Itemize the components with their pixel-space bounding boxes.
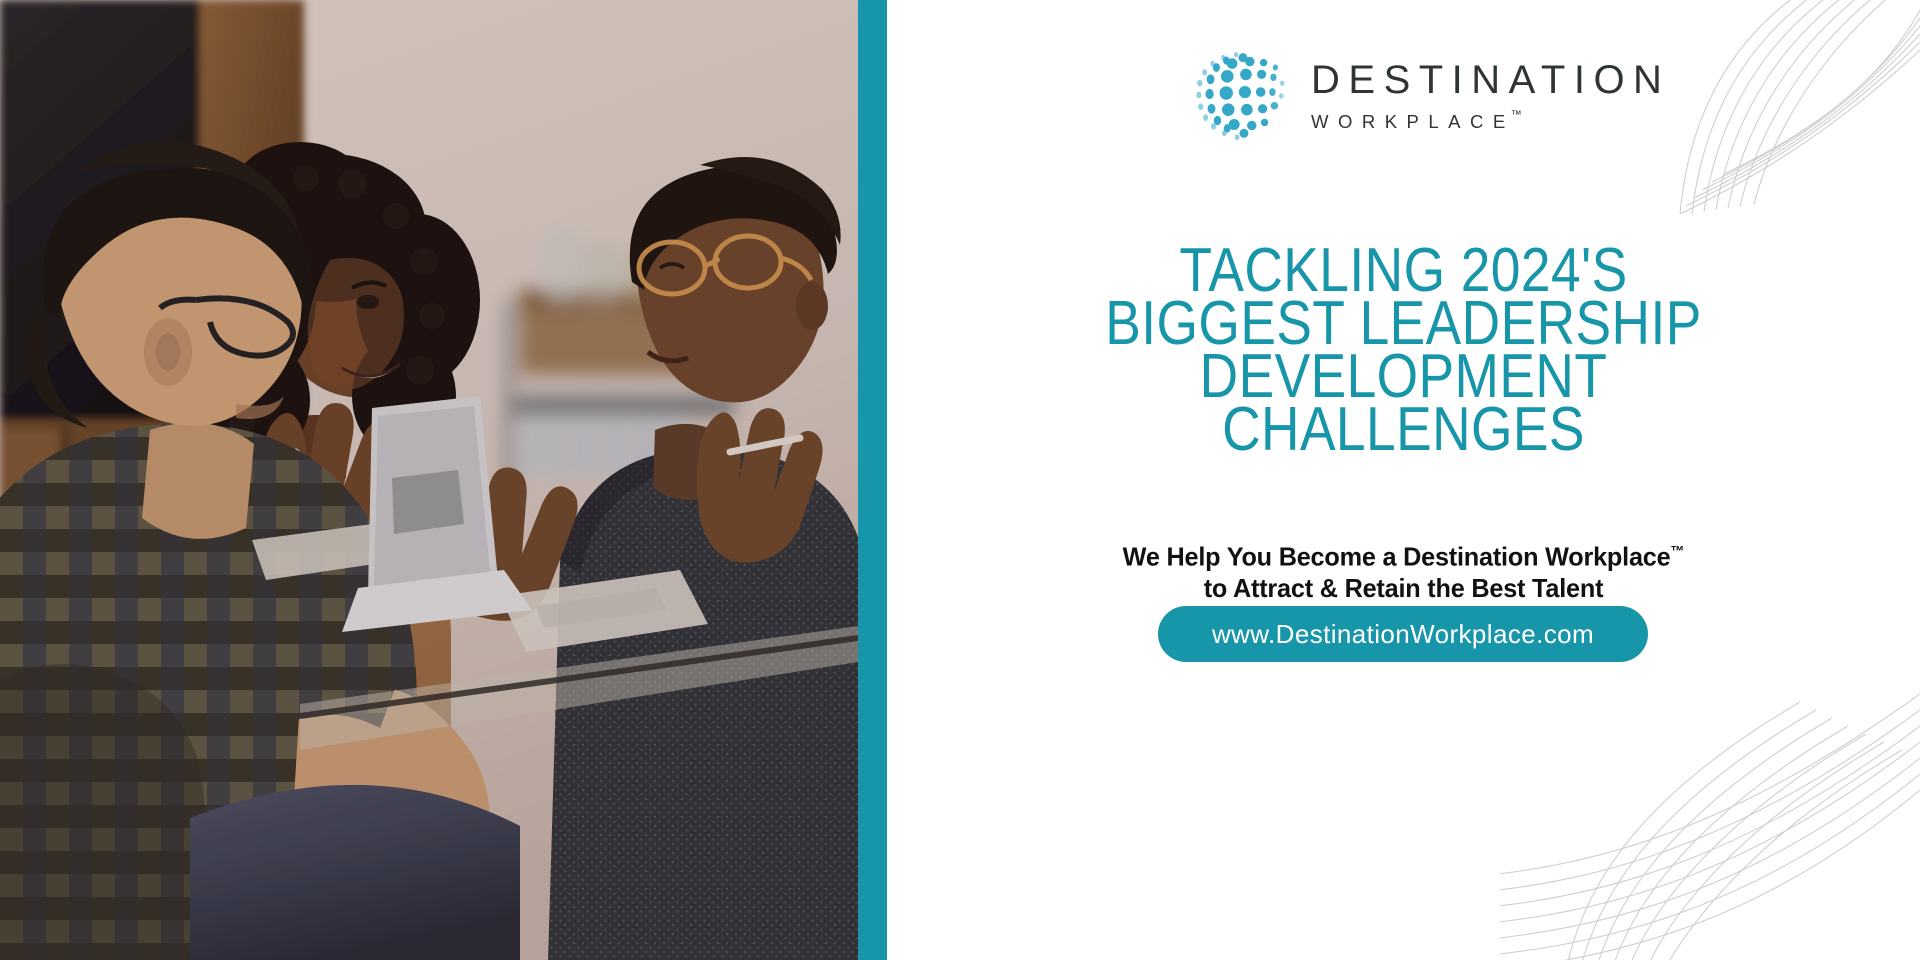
logo-name: DESTINATION bbox=[1311, 60, 1670, 100]
tagline-line-1: We Help You Become a Destination Workpla… bbox=[902, 537, 1904, 573]
decorative-lines-bottom-right-icon bbox=[1500, 640, 1920, 960]
dotted-sphere-logo-icon bbox=[1187, 40, 1295, 148]
headline-line-4: CHALLENGES bbox=[959, 403, 1847, 456]
tagline: We Help You Become a Destination Workpla… bbox=[902, 537, 1904, 604]
promo-banner: DESTINATION WORKPLACE ™ TACKLING 2024'S … bbox=[0, 0, 1920, 960]
cta-row: www.DestinationWorkplace.com bbox=[901, 606, 1905, 662]
website-url-button[interactable]: www.DestinationWorkplace.com bbox=[1158, 606, 1648, 662]
logo-trademark-icon: ™ bbox=[1511, 109, 1522, 121]
meeting-photo-illustration bbox=[0, 0, 858, 960]
hero-photo bbox=[0, 0, 858, 960]
tagline-line-1-text: We Help You Become a Destination Workpla… bbox=[1123, 542, 1671, 572]
page-title: TACKLING 2024'S BIGGEST LEADERSHIP DEVEL… bbox=[959, 244, 1847, 456]
teal-divider-bar bbox=[858, 0, 887, 960]
tagline-trademark-icon: ™ bbox=[1670, 544, 1684, 560]
brand-logo[interactable]: DESTINATION WORKPLACE ™ bbox=[1187, 38, 1797, 150]
logo-wordmark: DESTINATION WORKPLACE ™ bbox=[1311, 56, 1670, 132]
tagline-line-2: to Attract & Retain the Best Talent bbox=[902, 573, 1904, 604]
content-pane: DESTINATION WORKPLACE ™ TACKLING 2024'S … bbox=[887, 0, 1920, 960]
logo-subname: WORKPLACE bbox=[1311, 113, 1515, 132]
